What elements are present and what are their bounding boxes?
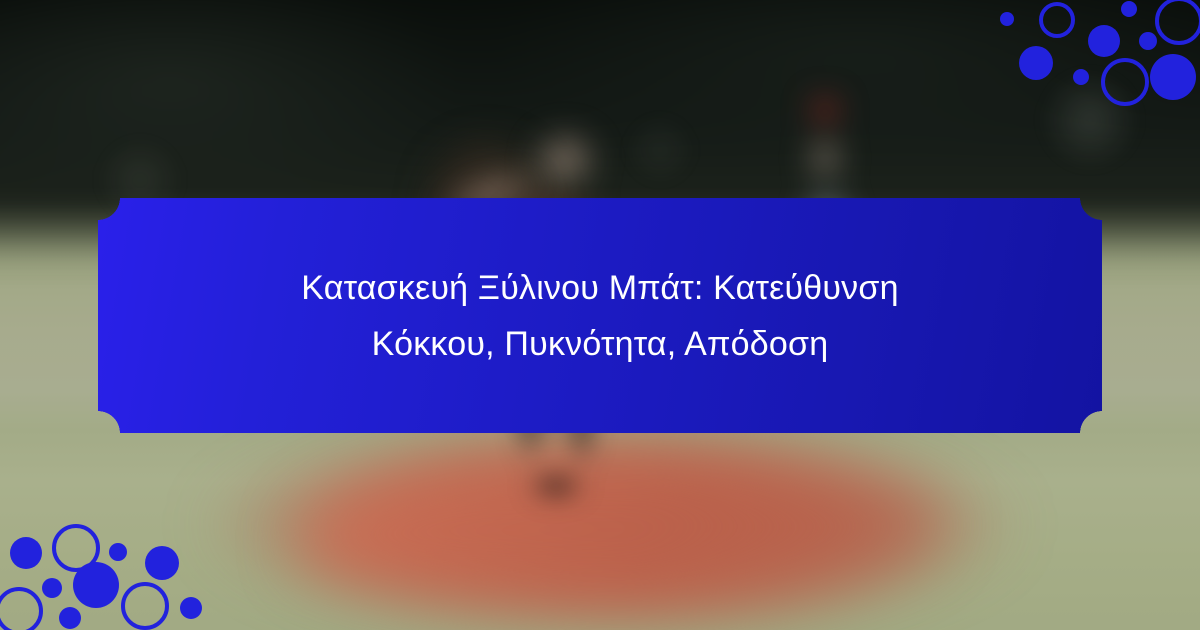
title-banner: Κατασκευή Ξύλινου Μπάτ: Κατεύθυνση Κόκκο… [98,198,1102,433]
social-share-card: Κατασκευή Ξύλινου Μπάτ: Κατεύθυνση Κόκκο… [0,0,1200,630]
page-title: Κατασκευή Ξύλινου Μπάτ: Κατεύθυνση Κόκκο… [301,260,898,372]
